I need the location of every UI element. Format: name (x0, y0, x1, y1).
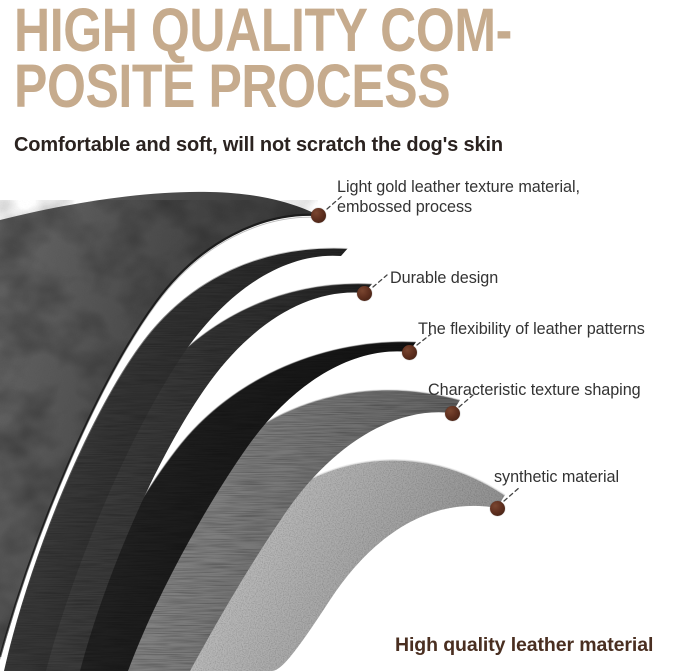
product-illustration (0, 160, 679, 671)
callout-label-embossed: Light gold leather texture material, emb… (337, 177, 580, 218)
callout-label-synthetic: synthetic material (494, 467, 619, 487)
callout-label-durable: Durable design (390, 268, 498, 288)
bottom-caption: High quality leather material (395, 634, 653, 657)
callout-dot-synthetic[interactable] (490, 501, 505, 516)
callout-dot-texture-shaping[interactable] (445, 406, 460, 421)
callout-dot-durable[interactable] (357, 286, 372, 301)
callout-dot-embossed[interactable] (311, 208, 326, 223)
page-subtitle: Comfortable and soft, will not scratch t… (14, 133, 503, 157)
callout-label-flexibility: The flexibility of leather patterns (418, 319, 645, 339)
page-title: HIGH QUALITY COM- POSITE PROCESS (14, 2, 539, 114)
infographic-page: HIGH QUALITY COM- POSITE PROCESS Comfort… (0, 0, 679, 671)
callout-label-texture-shaping: Characteristic texture shaping (428, 380, 641, 400)
callout-dot-flexibility[interactable] (402, 345, 417, 360)
